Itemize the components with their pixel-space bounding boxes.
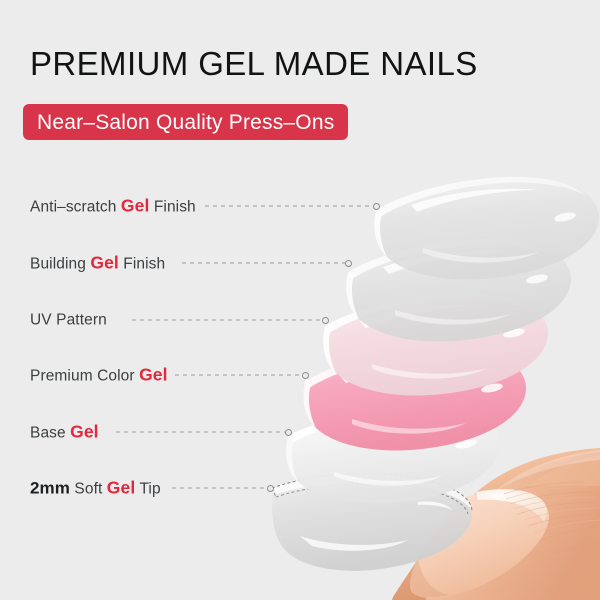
leader-line-uv-pattern	[132, 320, 325, 321]
callout-label-2mm-soft-gel-tip: 2mm Soft Gel Tip	[30, 479, 161, 497]
subtitle-badge: Near–Salon Quality Press–Ons	[23, 104, 348, 140]
label-text: Anti–scratch	[30, 198, 121, 215]
callout-label-base-gel: Base Gel	[30, 423, 99, 441]
thickness-keyword: 2mm	[30, 478, 70, 497]
gel-keyword: Gel	[107, 477, 136, 497]
leader-line-anti-scratch-gel-finish	[205, 206, 376, 207]
label-text: Tip	[135, 480, 160, 497]
callout-label-premium-color-gel: Premium Color Gel	[30, 366, 168, 384]
leader-endpoint-uv-pattern	[322, 317, 329, 324]
gel-keyword: Gel	[139, 364, 168, 384]
leader-line-base-gel	[116, 432, 288, 433]
leader-endpoint-premium-color-gel	[302, 372, 309, 379]
gel-keyword: Gel	[121, 195, 150, 215]
nail-layers-illustration	[0, 0, 600, 600]
leader-line-2mm-soft-gel-tip	[172, 488, 270, 489]
gel-keyword: Gel	[90, 252, 119, 272]
leader-endpoint-2mm-soft-gel-tip	[267, 485, 274, 492]
leader-line-building-gel-finish	[182, 263, 348, 264]
label-text: Building	[30, 255, 90, 272]
leader-endpoint-anti-scratch-gel-finish	[373, 203, 380, 210]
leader-endpoint-building-gel-finish	[345, 260, 352, 267]
label-text: Finish	[149, 198, 195, 215]
label-text: Premium Color	[30, 367, 139, 384]
label-text: Finish	[119, 255, 165, 272]
gel-keyword: Gel	[70, 421, 99, 441]
subtitle-badge-label: Near–Salon Quality Press–Ons	[37, 112, 334, 133]
infographic-canvas: PREMIUM GEL MADE NAILS Near–Salon Qualit…	[0, 0, 600, 600]
page-title: PREMIUM GEL MADE NAILS	[30, 47, 478, 80]
label-text: UV Pattern	[30, 311, 107, 328]
leader-endpoint-base-gel	[285, 429, 292, 436]
label-text: Soft	[70, 480, 107, 497]
callout-label-building-gel-finish: Building Gel Finish	[30, 254, 165, 272]
callout-label-uv-pattern: UV Pattern	[30, 312, 107, 328]
callout-label-anti-scratch-gel-finish: Anti–scratch Gel Finish	[30, 197, 196, 215]
leader-line-premium-color-gel	[175, 375, 305, 376]
label-text: Base	[30, 424, 70, 441]
